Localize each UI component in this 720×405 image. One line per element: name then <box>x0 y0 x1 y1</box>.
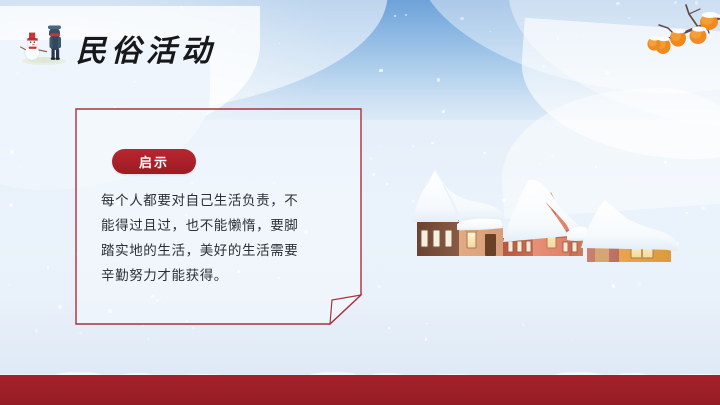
slide-canvas: 民俗活动 <box>0 0 720 405</box>
slide-header: 民俗活动 <box>0 0 720 80</box>
house-middle <box>503 180 587 256</box>
bottom-red-band <box>0 375 720 405</box>
persimmon-branch-illustration <box>610 0 720 80</box>
snow-covered-houses-illustration <box>405 158 695 268</box>
snowman-and-person-icon <box>16 20 72 66</box>
house-left <box>411 170 503 256</box>
house-right <box>581 200 679 262</box>
page-title: 民俗活动 <box>76 26 216 70</box>
insight-badge: 启示 <box>112 149 196 174</box>
insight-body-text: 每个人都要对自己生活负责，不 能得过且过，也不能懒惰，要脚 踏实地的生活，美好的… <box>101 188 333 288</box>
insight-callout-card: 启示 每个人都要对自己生活负责，不 能得过且过，也不能懒惰，要脚 踏实地的生活，… <box>75 108 362 325</box>
